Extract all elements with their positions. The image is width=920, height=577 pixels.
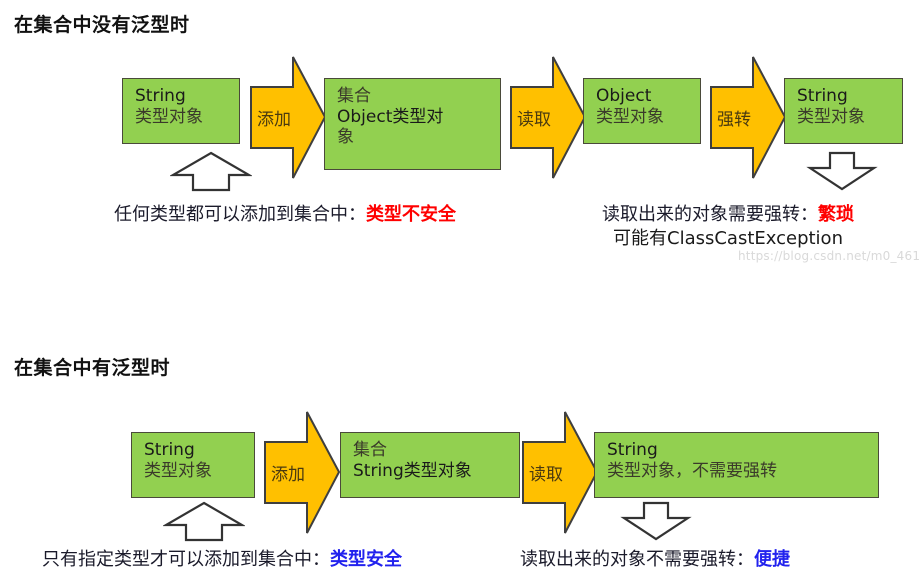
box-line-3: 象	[337, 127, 490, 148]
arrow-add-shape	[249, 55, 327, 180]
outline-arrow-down-top	[806, 150, 878, 192]
caption-top-left: 任何类型都可以添加到集合中：类型不安全	[114, 203, 456, 227]
box-line-1: 集合	[337, 86, 490, 107]
arrow-add-shape	[263, 410, 341, 535]
box-line-1: String	[607, 440, 868, 461]
box-bottom-collection-string: 集合 String类型对象	[340, 432, 520, 498]
caption-top-right-line2-text: 可能有ClassCastException	[613, 228, 843, 249]
caption-top-right-line2: 可能有ClassCastException	[602, 227, 854, 251]
box-line-1: String	[797, 86, 892, 107]
arrow-bottom-read: 读取	[521, 410, 599, 535]
box-top-string-source: String 类型对象	[122, 78, 240, 144]
watermark-text: https://blog.csdn.net/m0_461539	[738, 249, 920, 263]
box-line-2: String类型对象	[353, 461, 509, 482]
box-line-2: 类型对象	[797, 107, 892, 128]
box-line-1: Object	[596, 86, 690, 107]
caption-bottom-left: 只有指定类型才可以添加到集合中：类型安全	[42, 548, 402, 572]
box-line-2: 类型对象	[144, 461, 244, 482]
caption-bottom-right-highlight: 便捷	[754, 549, 790, 570]
arrow-read-shape	[521, 410, 599, 535]
caption-bottom-left-text: 只有指定类型才可以添加到集合中：	[42, 549, 330, 570]
section-title-with-generics: 在集合中有泛型时	[14, 353, 170, 380]
caption-top-left-highlight: 类型不安全	[366, 204, 456, 225]
box-line-2: 类型对象，不需要强转	[607, 461, 868, 482]
arrow-cast-shape	[709, 55, 787, 180]
down-arrow-icon	[806, 150, 878, 192]
caption-top-right-text: 读取出来的对象需要强转：	[602, 204, 818, 225]
caption-top-right: 读取出来的对象需要强转：繁琐 可能有ClassCastException	[602, 203, 854, 252]
section-title-no-generics: 在集合中没有泛型时	[14, 10, 190, 37]
box-bottom-string-result: String 类型对象，不需要强转	[594, 432, 879, 498]
caption-top-right-highlight: 繁琐	[818, 204, 854, 225]
box-line-1: 集合	[353, 440, 509, 461]
arrow-bottom-add: 添加	[263, 410, 341, 535]
box-line-2: 类型对象	[596, 107, 690, 128]
outline-arrow-down-bottom	[620, 500, 692, 542]
arrow-top-cast: 强转	[709, 55, 787, 180]
up-arrow-icon	[170, 150, 252, 192]
caption-top-right-line1: 读取出来的对象需要强转：繁琐	[602, 203, 854, 227]
caption-top-left-text: 任何类型都可以添加到集合中：	[114, 204, 366, 225]
up-arrow-icon	[163, 500, 245, 542]
box-top-collection-object: 集合 Object类型对 象	[324, 78, 501, 170]
box-line-1: String	[135, 86, 229, 107]
outline-arrow-up-bottom	[163, 500, 245, 542]
box-line-1: String	[144, 440, 244, 461]
arrow-top-read: 读取	[509, 55, 587, 180]
box-line-2: 类型对象	[135, 107, 229, 128]
box-top-string-result: String 类型对象	[784, 78, 903, 144]
caption-bottom-right-text: 读取出来的对象不需要强转：	[520, 549, 754, 570]
box-line-2: Object类型对	[337, 107, 490, 128]
arrow-top-add: 添加	[249, 55, 327, 180]
caption-bottom-left-highlight: 类型安全	[330, 549, 402, 570]
caption-bottom-right: 读取出来的对象不需要强转：便捷	[520, 548, 790, 572]
arrow-read-shape	[509, 55, 587, 180]
down-arrow-icon	[620, 500, 692, 542]
box-top-object-read: Object 类型对象	[583, 78, 701, 144]
outline-arrow-up-top	[170, 150, 252, 192]
box-bottom-string-source: String 类型对象	[131, 432, 255, 498]
